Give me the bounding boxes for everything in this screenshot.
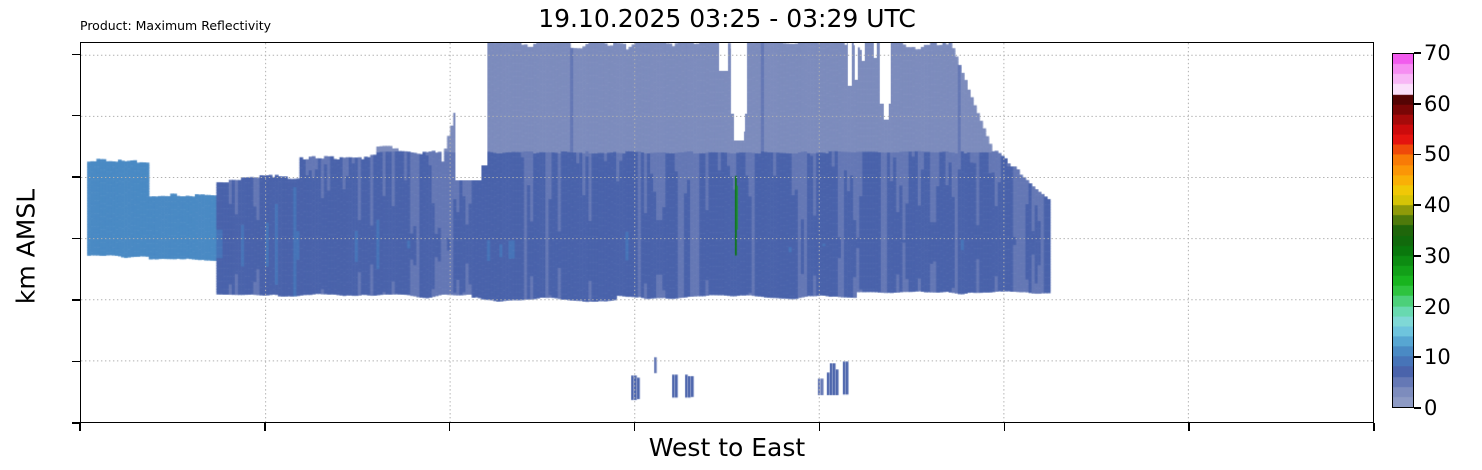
colorbar: 010203040506070 <box>1392 53 1414 408</box>
colorbar-tick-label: 30 <box>1424 244 1451 268</box>
colorbar-tick-label: 20 <box>1424 295 1451 319</box>
x-tick-mark <box>819 423 820 431</box>
chart-title: 19.10.2025 03:25 - 03:29 UTC <box>80 4 1374 33</box>
x-axis-label: West to East <box>80 433 1374 462</box>
colorbar-tick-label: 10 <box>1424 345 1451 369</box>
colorbar-tick-label: 50 <box>1424 142 1451 166</box>
colorbar-tick-mark <box>1414 52 1421 54</box>
x-tick-mark <box>79 423 80 431</box>
radar-cross-section-figure: Product: Maximum Reflectivity 19.10.2025… <box>0 0 1482 470</box>
x-tick-mark <box>1373 423 1374 431</box>
colorbar-tick-label: 40 <box>1424 193 1451 217</box>
colorbar-tick-mark <box>1414 407 1421 409</box>
colorbar-tick-mark <box>1414 356 1421 358</box>
y-tick-mark <box>72 176 80 177</box>
colorbar-tick-label: 0 <box>1424 396 1437 420</box>
x-tick-mark <box>1004 423 1005 431</box>
colorbar-tick-mark <box>1414 103 1421 105</box>
x-tick-mark <box>264 423 265 431</box>
colorbar-tick-label: 60 <box>1424 92 1451 116</box>
colorbar-tick-mark <box>1414 204 1421 206</box>
plot-area <box>80 42 1374 423</box>
colorbar-tick-label: 70 <box>1424 41 1451 65</box>
colorbar-tick-mark <box>1414 255 1421 257</box>
y-tick-mark <box>72 361 80 362</box>
y-tick-mark <box>72 54 80 55</box>
colorbar-gradient <box>1392 53 1414 408</box>
reflectivity-heatmap <box>81 43 1373 422</box>
y-tick-mark <box>72 115 80 116</box>
x-tick-mark <box>1188 423 1189 431</box>
y-tick-mark <box>72 299 80 300</box>
x-tick-mark <box>449 423 450 431</box>
y-axis-label: km AMSL <box>12 147 41 347</box>
y-tick-mark <box>72 238 80 239</box>
x-tick-mark <box>634 423 635 431</box>
colorbar-tick-mark <box>1414 306 1421 308</box>
colorbar-tick-mark <box>1414 154 1421 156</box>
